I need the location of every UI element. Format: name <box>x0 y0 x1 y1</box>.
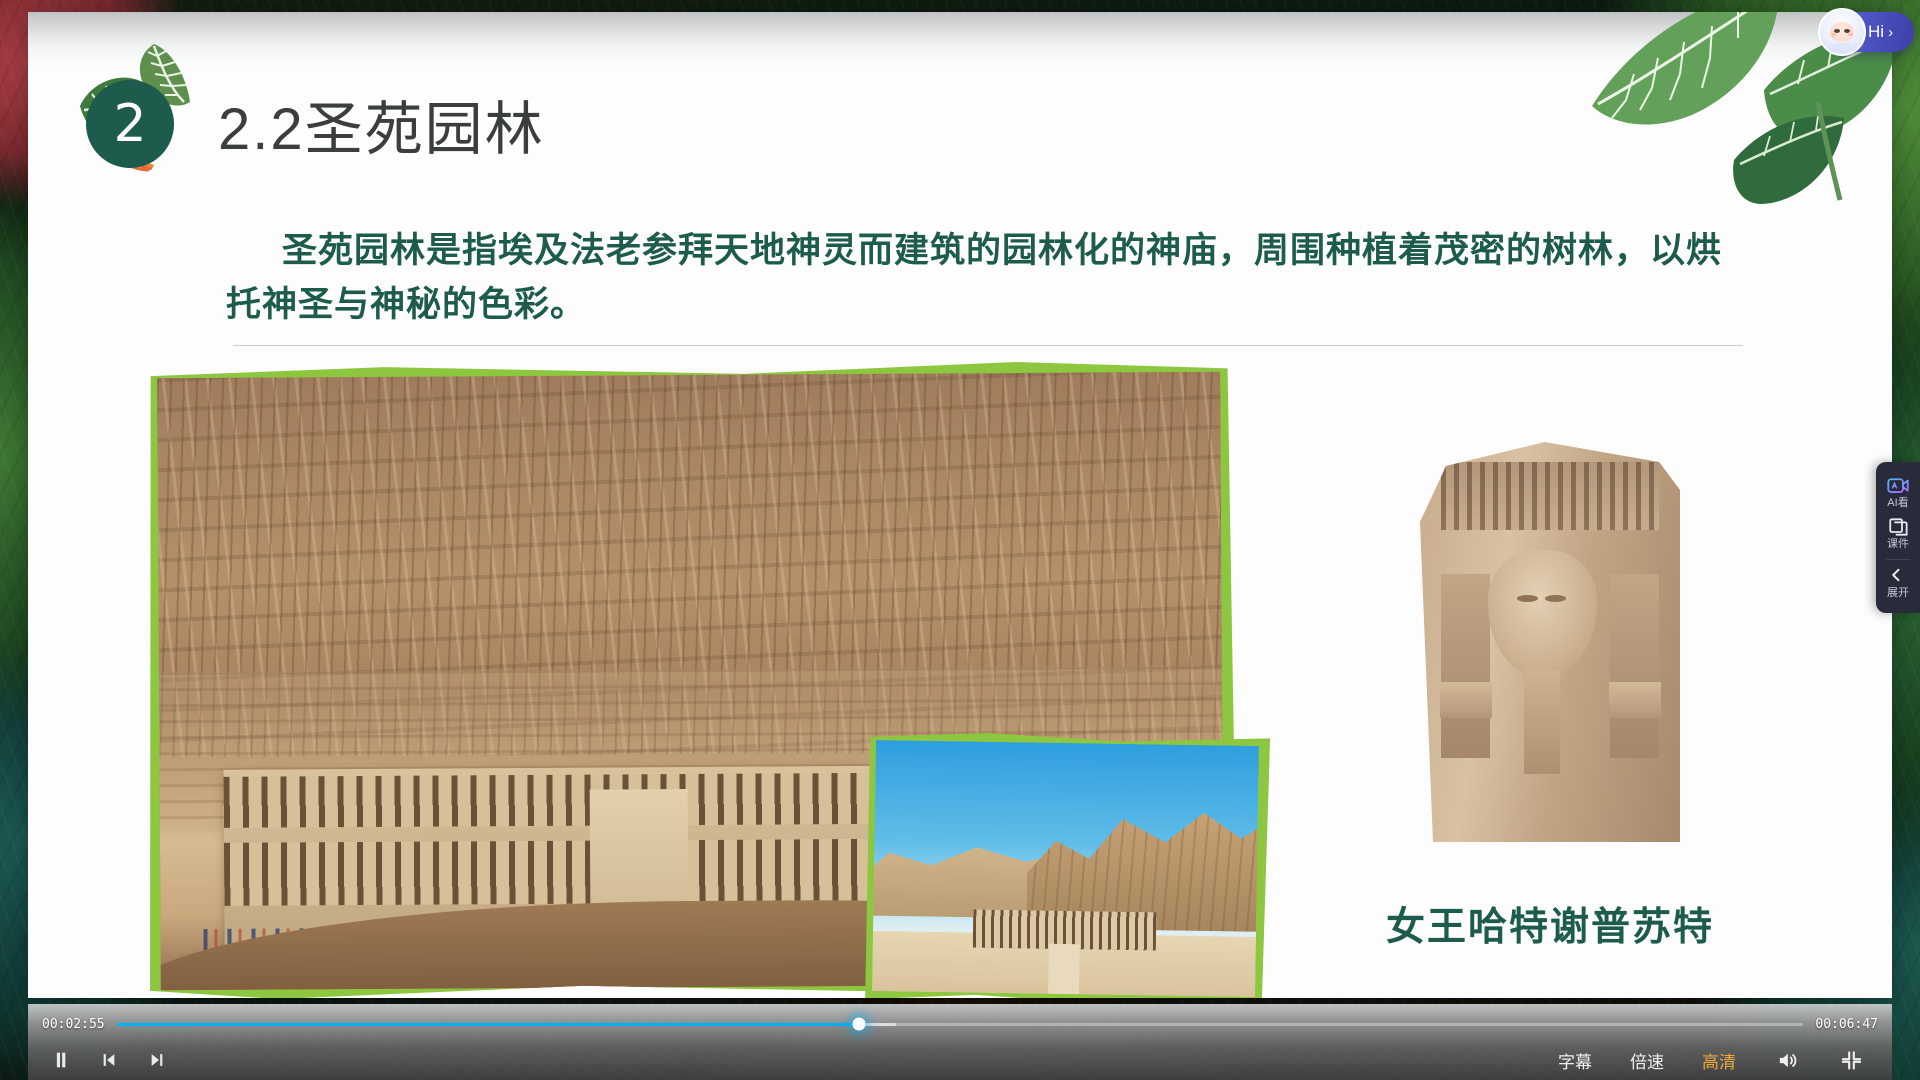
statue-crown <box>1441 462 1659 530</box>
slide-top-sheen <box>28 12 1892 70</box>
sidebar-item-courseware-label: 课件 <box>1887 538 1909 550</box>
progress-handle[interactable] <box>852 1018 865 1031</box>
slide-header: 2 2.2圣苑园林 <box>86 80 545 168</box>
total-time-label: 00:06:47 <box>1815 1017 1878 1032</box>
sidebar-item-ai-watch[interactable]: AI看 <box>1876 472 1920 514</box>
statue-column <box>1420 442 1680 842</box>
progress-scrubber[interactable] <box>117 1023 1804 1026</box>
sidebar-item-ai-watch-label: AI看 <box>1887 497 1908 509</box>
statue-eye-right <box>1545 595 1566 602</box>
volume-button[interactable] <box>1774 1047 1800 1073</box>
toolbar-separator <box>1886 559 1910 560</box>
next-button[interactable] <box>144 1047 170 1073</box>
pause-button[interactable] <box>48 1047 74 1073</box>
page-title: 2.2圣苑园林 <box>218 82 545 166</box>
sidebar-item-expand[interactable]: 展开 <box>1876 563 1920 604</box>
button-row: 字幕 倍速 高清 <box>28 1040 1892 1080</box>
exit-fullscreen-icon <box>1840 1049 1863 1072</box>
statue-band-right <box>1609 682 1661 718</box>
ai-camera-icon <box>1887 476 1909 495</box>
sidebar-item-courseware[interactable]: 课件 <box>1876 514 1920 555</box>
slide-canvas: 2 2.2圣苑园林 圣苑园林是指埃及法老参拜天地神灵而建筑的园林化的神庙，周围种… <box>28 12 1892 998</box>
previous-button[interactable] <box>96 1047 122 1073</box>
mascot-face <box>1830 22 1855 41</box>
progress-row: 00:02:55 00:06:47 <box>28 1013 1892 1035</box>
exit-fullscreen-button[interactable] <box>1838 1047 1864 1073</box>
statue-wig-left <box>1441 574 1490 758</box>
transport-controls <box>28 1047 170 1073</box>
section-number-badge: 2 <box>86 80 174 168</box>
chevron-left-icon <box>1889 567 1908 585</box>
greeting-label: Hi <box>1868 22 1884 42</box>
assistant-greeting-button[interactable]: Hi › <box>1828 12 1914 52</box>
statue-eye-left <box>1517 595 1538 602</box>
inset-photo-frame[interactable] <box>862 730 1270 998</box>
book-icon <box>1889 518 1908 536</box>
slide-body-text: 圣苑园林是指埃及法老参拜天地神灵而建筑的园林化的神庙，周围种植着茂密的树林，以烘… <box>226 224 1746 333</box>
pause-icon <box>50 1049 72 1071</box>
inset-photo-image <box>872 740 1259 997</box>
subtitles-button[interactable]: 字幕 <box>1558 1048 1592 1073</box>
sidebar-item-expand-label: 展开 <box>1887 587 1909 599</box>
video-player-stage: 2 2.2圣苑园林 圣苑园林是指埃及法老参拜天地神灵而建筑的园林化的神庙，周围种… <box>0 0 1920 1080</box>
statue-photo[interactable] <box>1420 442 1680 842</box>
mascot-body <box>1832 43 1851 54</box>
skip-previous-icon <box>99 1050 119 1070</box>
player-control-bar: 00:02:55 00:06:47 <box>0 1004 1920 1080</box>
player-options: 字幕 倍速 高清 <box>1558 1047 1892 1073</box>
statue-wig-right <box>1610 574 1659 758</box>
side-toolbar: AI看 课件 展开 <box>1876 462 1920 613</box>
statue-chin <box>1524 670 1560 774</box>
inset-temple-path <box>1048 944 1079 995</box>
speed-button[interactable]: 倍速 <box>1630 1048 1664 1073</box>
statue-face <box>1488 550 1597 678</box>
skip-next-icon <box>147 1050 167 1070</box>
chevron-right-icon: › <box>1888 25 1893 40</box>
quality-button[interactable]: 高清 <box>1702 1048 1736 1073</box>
current-time-label: 00:02:55 <box>42 1017 105 1032</box>
statue-band-left <box>1440 682 1492 718</box>
statue-caption: 女王哈特谢普苏特 <box>1360 896 1740 952</box>
content-divider <box>233 345 1743 346</box>
avatar <box>1818 8 1866 56</box>
volume-icon <box>1776 1049 1799 1072</box>
progress-played <box>117 1023 859 1026</box>
